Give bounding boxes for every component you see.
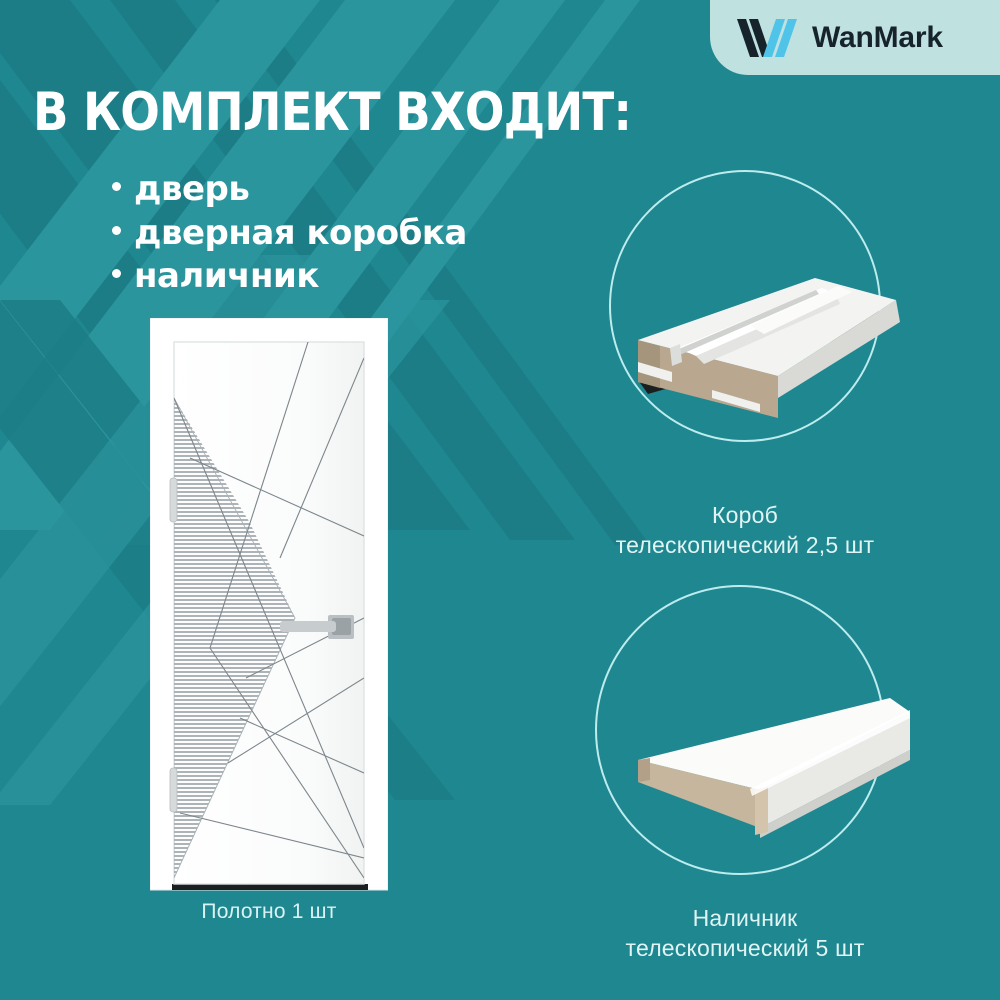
telescopic-casing-profile-icon xyxy=(600,640,920,840)
list-item: наличник xyxy=(112,255,467,299)
caption-line: Короб xyxy=(545,500,945,530)
brand-badge: WanMark xyxy=(710,0,1000,75)
door-leaf-caption: Полотно 1 шт xyxy=(150,900,388,924)
included-items-list: дверь дверная коробка наличник xyxy=(112,168,467,299)
list-item-label: дверная коробка xyxy=(134,212,467,256)
list-item: дверная коробка xyxy=(112,212,467,256)
wanmark-w-logo-icon xyxy=(736,17,802,59)
list-item-label: наличник xyxy=(134,255,319,299)
product-door-frame-caption: Короб телескопический 2,5 шт xyxy=(545,500,945,561)
list-item: дверь xyxy=(112,168,467,212)
caption-line: Наличник xyxy=(545,903,945,933)
brand-name: WanMark xyxy=(812,21,943,55)
bullet-dot-icon xyxy=(112,182,121,191)
bullet-dot-icon xyxy=(112,226,121,235)
promo-banner: WanMark В КОМПЛЕКТ ВХОДИТ: дверь дверная… xyxy=(0,0,1000,1000)
caption-line: телескопический 2,5 шт xyxy=(545,530,945,560)
page-title: В КОМПЛЕКТ ВХОДИТ: xyxy=(33,86,631,139)
telescopic-frame-profile-icon xyxy=(600,230,920,420)
list-item-label: дверь xyxy=(134,168,249,212)
product-door-casing-caption: Наличник телескопический 5 шт xyxy=(545,903,945,964)
bullet-dot-icon xyxy=(112,269,121,278)
caption-line: Полотно 1 шт xyxy=(201,900,336,923)
caption-line: телескопический 5 шт xyxy=(545,933,945,963)
door-leaf-icon xyxy=(150,318,388,893)
